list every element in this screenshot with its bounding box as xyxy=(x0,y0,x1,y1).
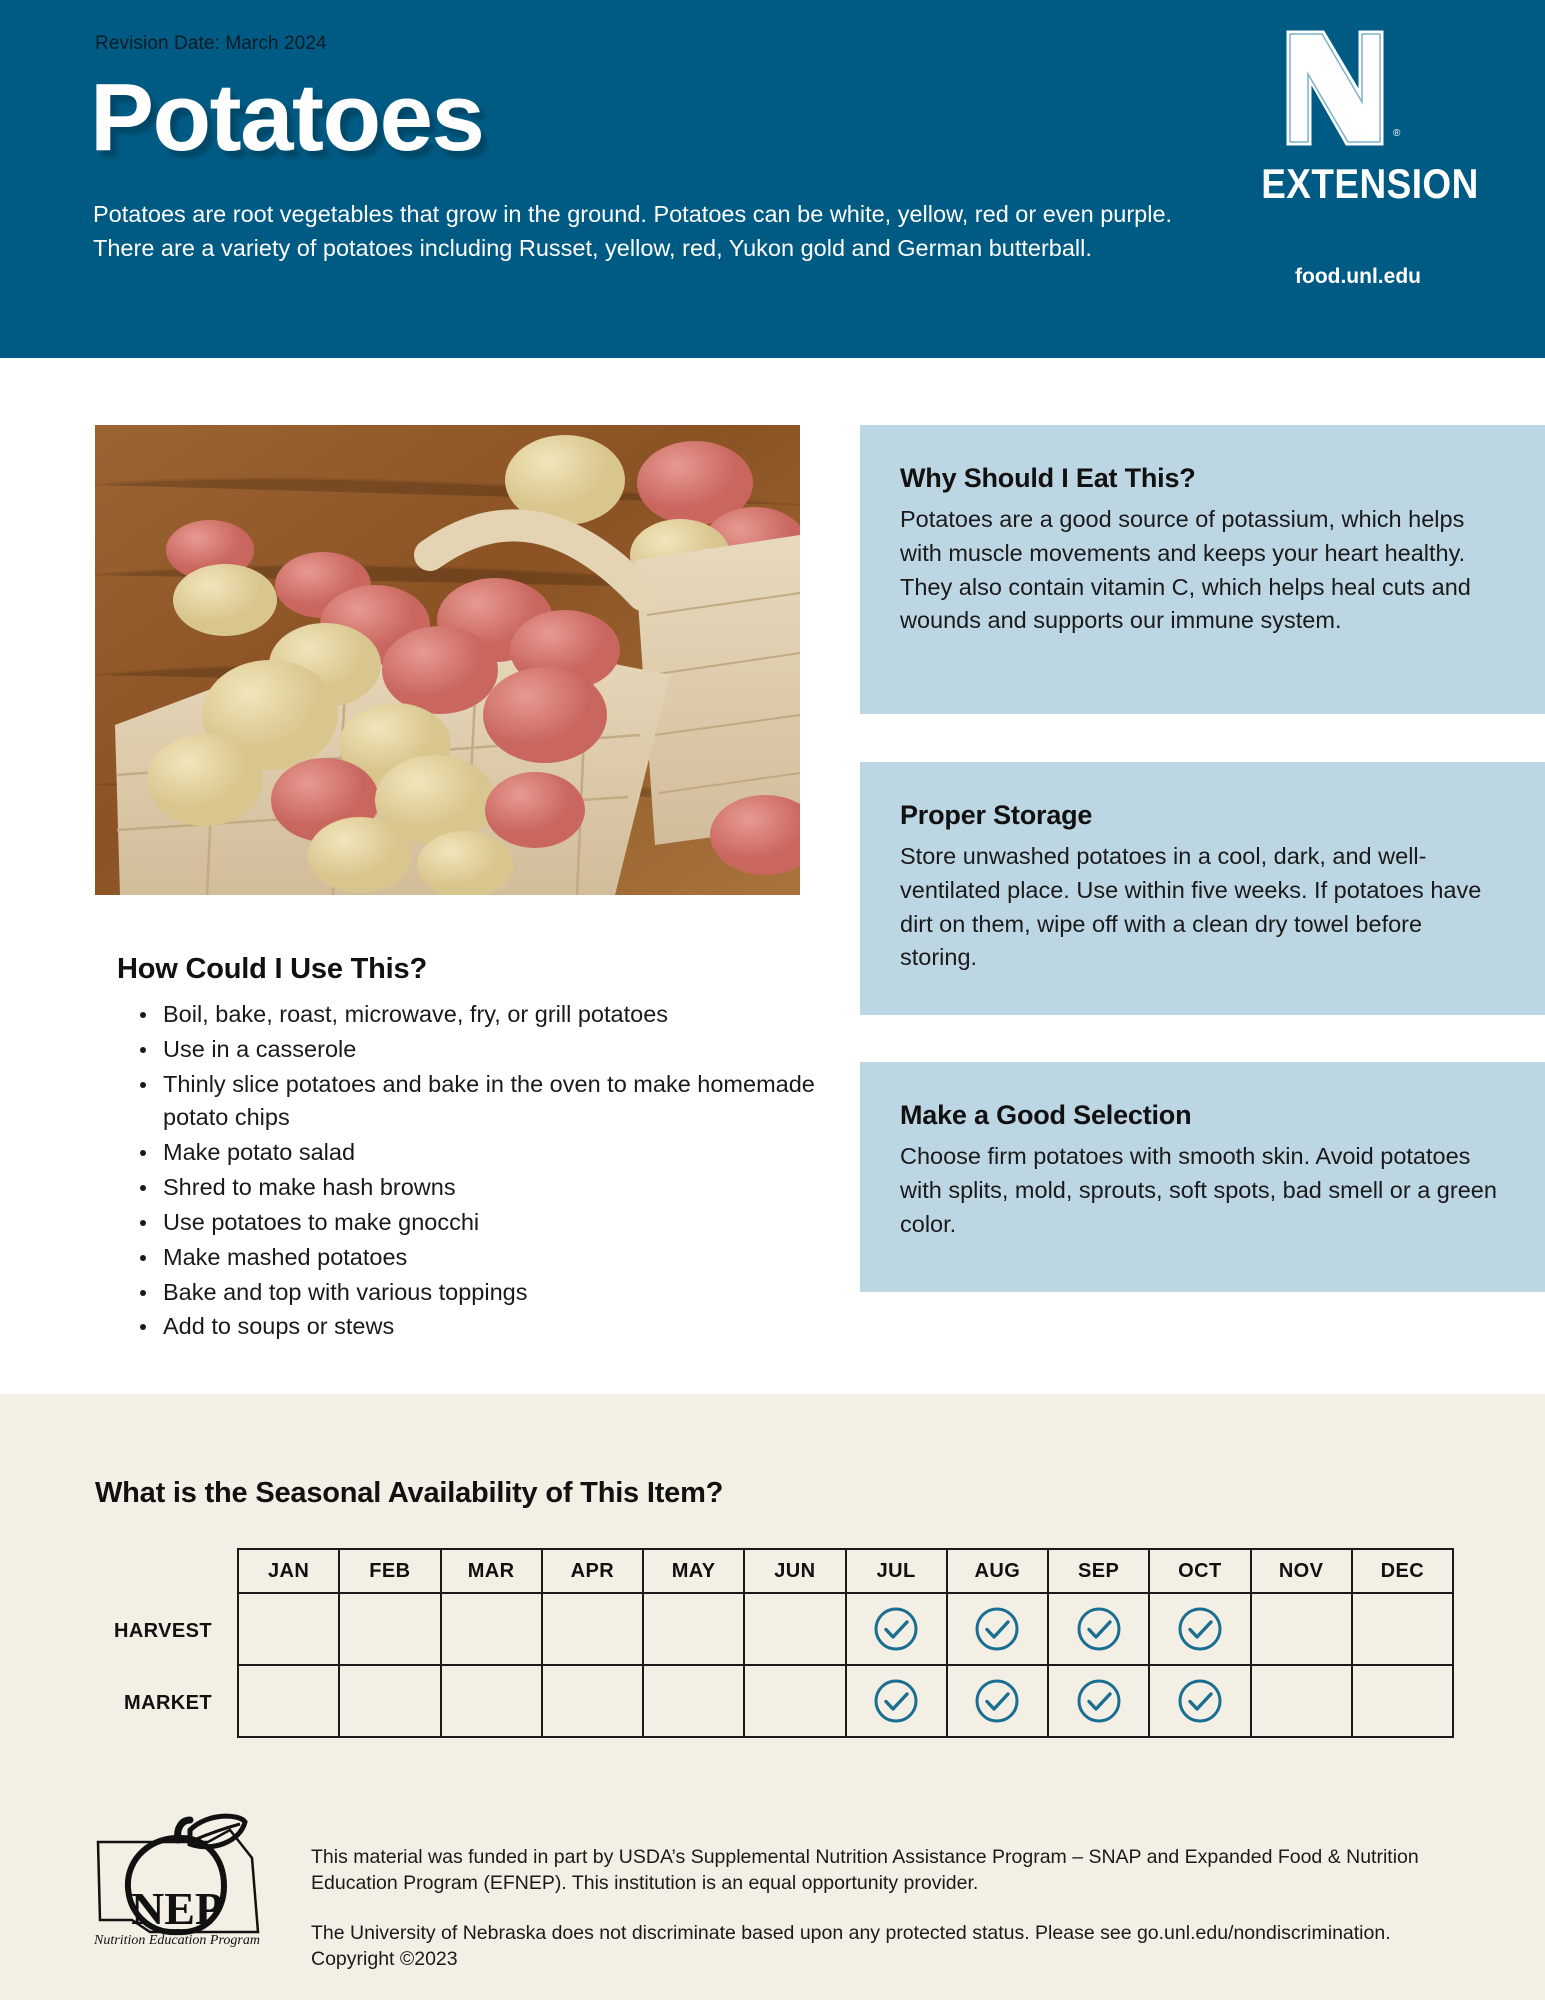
availability-cell[interactable] xyxy=(1352,1593,1453,1665)
info-box-heading: Make a Good Selection xyxy=(900,1100,1503,1131)
check-circle-icon xyxy=(872,1605,920,1653)
month-header: APR xyxy=(542,1549,643,1593)
seasonal-availability-table: JAN FEB MAR APR MAY JUN JUL AUG SEP OCT … xyxy=(237,1548,1454,1738)
unl-n-logo-icon xyxy=(1281,25,1389,151)
info-box-body: Potatoes are a good source of potassium,… xyxy=(900,503,1503,638)
month-header: NOV xyxy=(1251,1549,1352,1593)
row-label-harvest: HARVEST xyxy=(0,1620,225,1643)
list-item: Add to soups or stews xyxy=(128,1310,818,1344)
revision-date: Revision Date: March 2024 xyxy=(95,33,327,55)
availability-cell[interactable] xyxy=(1048,1593,1149,1665)
table-body xyxy=(238,1593,1453,1737)
availability-cell[interactable] xyxy=(643,1593,744,1665)
disclaimer-usda: This material was funded in part by USDA… xyxy=(311,1845,1461,1897)
availability-cell[interactable] xyxy=(441,1665,542,1737)
page-title: Potatoes xyxy=(90,68,483,169)
svg-text:Nutrition Education Program: Nutrition Education Program xyxy=(93,1933,260,1948)
registered-trademark-icon: ® xyxy=(1393,128,1400,139)
intro-paragraph: Potatoes are root vegetables that grow i… xyxy=(93,198,1203,266)
check-circle-icon xyxy=(1176,1677,1224,1725)
fact-sheet-page: Revision Date: March 2024 Potatoes Potat… xyxy=(0,0,1545,2000)
check-circle-icon xyxy=(872,1677,920,1725)
list-item: Make potato salad xyxy=(128,1136,818,1170)
hero-photo-potatoes xyxy=(95,425,800,895)
availability-cell[interactable] xyxy=(542,1593,643,1665)
disclaimer-nondiscrimination: The University of Nebraska does not disc… xyxy=(311,1921,1461,1973)
list-item: Boil, bake, roast, microwave, fry, or gr… xyxy=(128,998,818,1032)
list-item: Shred to make hash browns xyxy=(128,1171,818,1205)
availability-cell[interactable] xyxy=(441,1593,542,1665)
availability-cell[interactable] xyxy=(744,1593,845,1665)
check-circle-icon xyxy=(1176,1605,1224,1653)
svg-text:NEP: NEP xyxy=(131,1883,223,1934)
nep-logo-icon: NEP Nutrition Education Program xyxy=(90,1812,265,1957)
availability-cell[interactable] xyxy=(1251,1593,1352,1665)
info-box-proper-storage: Proper Storage Store unwashed potatoes i… xyxy=(860,762,1545,1015)
availability-cell[interactable] xyxy=(947,1593,1048,1665)
month-header: JUN xyxy=(744,1549,845,1593)
info-box-heading: Why Should I Eat This? xyxy=(900,463,1503,494)
page-header: Revision Date: March 2024 Potatoes Potat… xyxy=(0,0,1545,358)
list-item: Bake and top with various toppings xyxy=(128,1276,818,1310)
seasonal-heading: What is the Seasonal Availability of Thi… xyxy=(95,1477,723,1510)
month-header: MAR xyxy=(441,1549,542,1593)
list-item: Make mashed potatoes xyxy=(128,1241,818,1275)
info-box-good-selection: Make a Good Selection Choose firm potato… xyxy=(860,1062,1545,1292)
month-header: DEC xyxy=(1352,1549,1453,1593)
list-item: Thinly slice potatoes and bake in the ov… xyxy=(128,1068,818,1136)
check-circle-icon xyxy=(973,1605,1021,1653)
availability-cell[interactable] xyxy=(947,1665,1048,1737)
month-header: MAY xyxy=(643,1549,744,1593)
check-circle-icon xyxy=(973,1677,1021,1725)
table-row xyxy=(238,1593,1453,1665)
info-box-body: Store unwashed potatoes in a cool, dark,… xyxy=(900,840,1503,975)
info-box-heading: Proper Storage xyxy=(900,800,1503,831)
uses-list: Boil, bake, roast, microwave, fry, or gr… xyxy=(128,998,818,1345)
availability-cell[interactable] xyxy=(744,1665,845,1737)
uses-heading: How Could I Use This? xyxy=(117,953,427,986)
availability-cell[interactable] xyxy=(846,1593,947,1665)
availability-cell[interactable] xyxy=(339,1665,440,1737)
availability-cell[interactable] xyxy=(1352,1665,1453,1737)
list-item: Use potatoes to make gnocchi xyxy=(128,1206,818,1240)
check-circle-icon xyxy=(1075,1605,1123,1653)
check-circle-icon xyxy=(1075,1677,1123,1725)
info-box-why-eat: Why Should I Eat This? Potatoes are a go… xyxy=(860,425,1545,714)
month-header: JAN xyxy=(238,1549,339,1593)
table-header-row: JAN FEB MAR APR MAY JUN JUL AUG SEP OCT … xyxy=(238,1549,1453,1593)
availability-cell[interactable] xyxy=(1251,1665,1352,1737)
availability-cell[interactable] xyxy=(1048,1665,1149,1737)
availability-cell[interactable] xyxy=(542,1665,643,1737)
availability-cell[interactable] xyxy=(1149,1593,1250,1665)
footer-disclaimer: This material was funded in part by USDA… xyxy=(311,1845,1461,1973)
table-row xyxy=(238,1665,1453,1737)
extension-wordmark: EXTENSION xyxy=(1261,160,1455,208)
site-url-link[interactable]: food.unl.edu xyxy=(1248,265,1468,289)
month-header: SEP xyxy=(1048,1549,1149,1593)
month-header: AUG xyxy=(947,1549,1048,1593)
info-box-body: Choose firm potatoes with smooth skin. A… xyxy=(900,1140,1503,1241)
list-item: Use in a casserole xyxy=(128,1033,818,1067)
availability-cell[interactable] xyxy=(643,1665,744,1737)
month-header: FEB xyxy=(339,1549,440,1593)
row-label-market: MARKET xyxy=(0,1692,225,1715)
availability-cell[interactable] xyxy=(339,1593,440,1665)
availability-cell[interactable] xyxy=(238,1665,339,1737)
month-header: JUL xyxy=(846,1549,947,1593)
availability-cell[interactable] xyxy=(1149,1665,1250,1737)
month-header: OCT xyxy=(1149,1549,1250,1593)
availability-cell[interactable] xyxy=(238,1593,339,1665)
availability-cell[interactable] xyxy=(846,1665,947,1737)
